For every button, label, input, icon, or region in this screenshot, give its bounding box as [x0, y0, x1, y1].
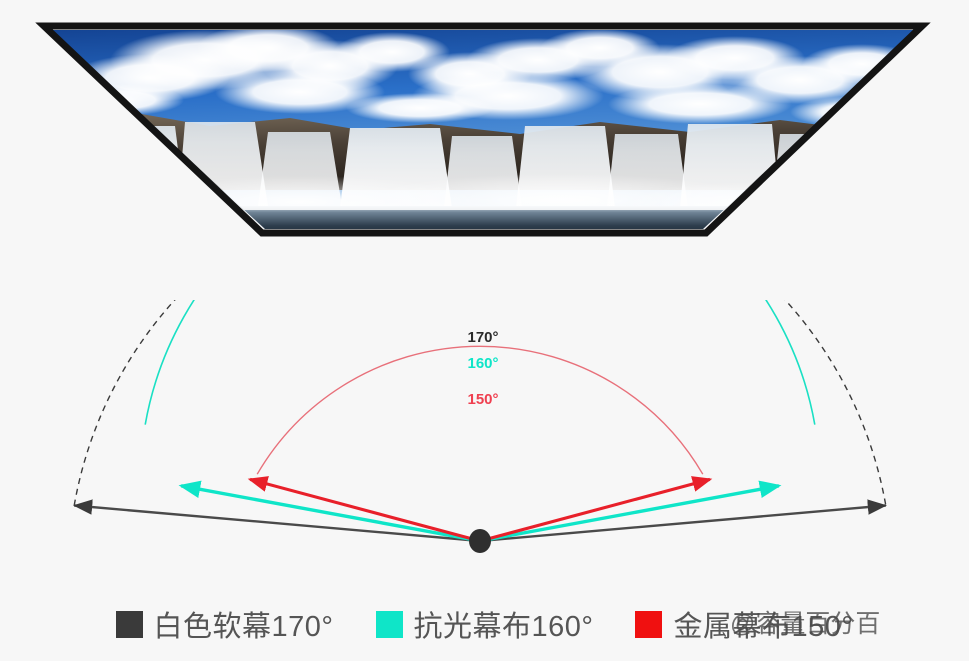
projection-screen-graphic [0, 0, 969, 250]
viewer-vertex [469, 529, 491, 553]
arrow-160-right [480, 486, 779, 541]
angle-label-170: 170° [467, 329, 498, 346]
viewing-angle-graphic: 170° 160° 150° [0, 300, 969, 575]
legend-item-white-soft-screen: 白色软幕170° [116, 603, 334, 645]
viewing-angle-infographic: 170° 160° 150° 白色软幕170° 抗光幕布160° 金属幕布150… [0, 0, 969, 661]
legend-swatch-icon-160 [376, 611, 403, 638]
legend-label-160: 抗光幕布160° [414, 603, 594, 645]
legend: 白色软幕170° 抗光幕布160° 金属幕布150° [0, 595, 969, 653]
legend-label-150: 金属幕布150° [673, 603, 853, 645]
viewing-angle-diagram: 170° 160° 150° [0, 300, 969, 575]
screen-photo [40, 24, 930, 242]
angle-label-150: 150° [467, 391, 498, 408]
projection-screen-stage [0, 0, 969, 250]
legend-label-170: 白色软幕170° [154, 603, 334, 645]
legend-swatch-icon-150 [635, 611, 662, 638]
legend-item-ambient-light-rejecting-screen: 抗光幕布160° [376, 603, 594, 645]
angle-label-160: 160° [467, 355, 498, 372]
legend-swatch-icon-170 [116, 611, 143, 638]
legend-item-metal-screen: 金属幕布150° [635, 603, 853, 645]
arrow-160-left [181, 486, 480, 541]
